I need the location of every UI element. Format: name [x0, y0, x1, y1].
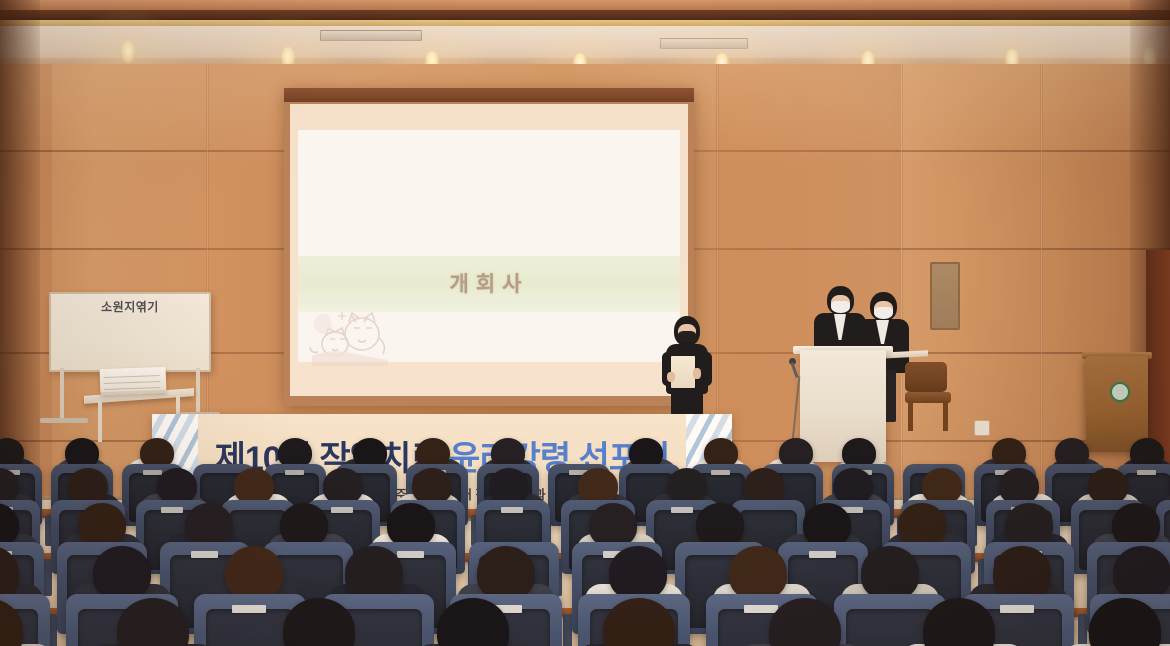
- seat-number-tag: [1000, 605, 1034, 613]
- wall-access-panel: [930, 262, 960, 330]
- audience-member-head: [1088, 468, 1128, 504]
- seat-number-tag: [397, 551, 424, 558]
- audience-member-head: [1113, 546, 1170, 600]
- whiteboard-stand-leg: [60, 368, 64, 420]
- slide-upper-area: [298, 130, 680, 256]
- audience-member-head: [667, 468, 707, 504]
- ceiling-vent: [320, 30, 422, 41]
- audience-member-head: [861, 546, 919, 600]
- audience-member-head: [185, 503, 233, 547]
- audience-member-head: [387, 503, 435, 547]
- presenter-hand: [693, 368, 701, 379]
- chair-leg: [908, 403, 913, 431]
- audience-member-head: [578, 468, 618, 504]
- whiteboard: 소원지엮기: [49, 292, 211, 372]
- seat-number-tag: [191, 551, 218, 558]
- seat-number-tag: [331, 507, 353, 513]
- paper-edge: [104, 381, 160, 384]
- presenter-hand: [667, 372, 675, 382]
- audience-member-head: [833, 468, 873, 504]
- seat-number-tag: [501, 507, 523, 513]
- audience-member-head: [898, 503, 946, 547]
- audience-member-head: [280, 503, 328, 547]
- lectern-emblem: [1110, 382, 1130, 402]
- audience-member-head: [323, 468, 363, 504]
- audience-member-head: [477, 546, 535, 600]
- two-cartoon-tigers-illustration: [304, 308, 396, 366]
- audience-member-head: [999, 468, 1039, 504]
- seat-number-tag: [232, 605, 266, 613]
- presenter-face-mask: [678, 331, 696, 343]
- stage-armchair: [905, 362, 951, 432]
- slide-title-text: 개회사: [298, 268, 680, 298]
- presenter-arm: [701, 352, 712, 386]
- presenter-woman: [660, 316, 714, 428]
- audience-member-head: [225, 546, 283, 600]
- paper-edge: [104, 387, 160, 390]
- audience-member-head: [729, 546, 787, 600]
- audience-member-head: [589, 503, 637, 547]
- presenter-script-paper: [671, 356, 695, 388]
- speaker-face-mask: [874, 307, 893, 319]
- seat-cushion: [846, 609, 933, 646]
- audience-member-head: [922, 468, 962, 504]
- audience-member-head: [609, 546, 667, 600]
- audience-member-head: [157, 468, 197, 504]
- audience-member-head: [68, 468, 108, 504]
- whiteboard-stand-foot: [40, 418, 88, 423]
- seat-number-tag: [161, 507, 183, 513]
- presentation-slide: 개회사: [298, 130, 680, 362]
- armrest-post: [1078, 614, 1087, 646]
- seat-number-tag: [143, 470, 162, 475]
- chair-leg: [943, 403, 948, 431]
- whiteboard-stand-leg: [196, 368, 200, 414]
- paper-edge: [104, 375, 160, 378]
- audience-member-head: [234, 468, 274, 504]
- seat-number-tag: [1137, 470, 1156, 475]
- speaker-face-mask: [831, 301, 850, 313]
- chair-seat: [905, 392, 951, 403]
- audience-member-head: [93, 546, 151, 600]
- audience-member-head: [412, 468, 452, 504]
- audience-seating-area: [0, 430, 1170, 646]
- auditorium-photo: 개회사: [0, 0, 1170, 646]
- whiteboard-caption: 소원지엮기: [51, 298, 209, 315]
- seat-number-tag: [744, 605, 778, 613]
- audience-member-head: [1005, 503, 1053, 547]
- chair-backrest: [905, 362, 947, 392]
- audience-member-head: [993, 546, 1051, 600]
- armrest-post: [563, 614, 572, 646]
- projection-screen-surface: 개회사: [290, 104, 688, 396]
- audience-member-head: [803, 503, 851, 547]
- audience-member-head: [78, 503, 126, 547]
- seat-number-tag: [671, 507, 693, 513]
- audience-member-head: [696, 503, 744, 547]
- audience-member-head: [345, 546, 403, 600]
- seat-cushion: [206, 609, 293, 646]
- audience-member-head: [489, 468, 529, 504]
- audience-member-head: [1112, 503, 1160, 547]
- projection-screen-roller: [284, 88, 694, 102]
- ceiling-vent: [660, 38, 748, 49]
- seat-number-tag: [809, 551, 836, 558]
- seat-number-tag: [711, 470, 730, 475]
- audience-member-head: [744, 468, 784, 504]
- seat-number-tag: [285, 470, 304, 475]
- ceiling-downlight: [121, 41, 135, 63]
- paper-stack: [100, 367, 167, 395]
